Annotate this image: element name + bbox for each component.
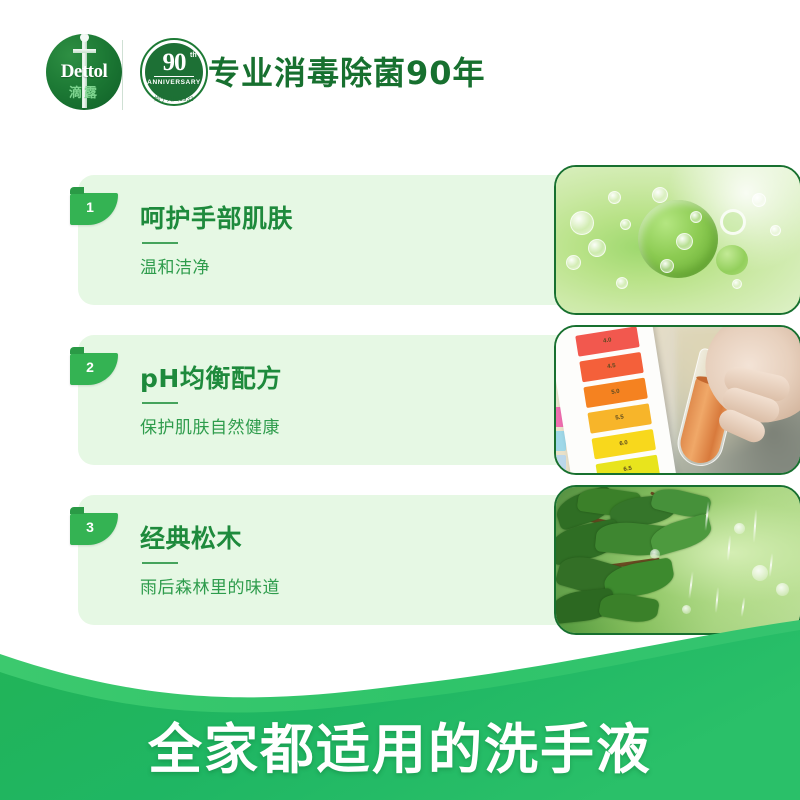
card-subtitle: 保护肌肤自然健康 [140, 413, 280, 438]
green-gel-bubbles-photo [554, 165, 800, 315]
card-divider-rule [142, 242, 178, 244]
ph-photo-background: 4.0 4.5 5.0 5.5 6.0 6.5 [556, 327, 800, 473]
pine-forest-rain-photo [554, 485, 800, 635]
bubble-small [660, 259, 674, 273]
ph-test-strip-photo: 4.0 4.5 5.0 5.5 6.0 6.5 [554, 325, 800, 475]
logo-circle-shape: Dettol 滴露 [46, 34, 122, 110]
bubble-small [752, 193, 766, 207]
bokeh-light [734, 523, 745, 534]
ph-swatch: 4.0 [575, 326, 640, 356]
card-title: 经典松木 [140, 519, 242, 555]
ph-swatch: 5.0 [583, 378, 648, 408]
dettol-logo: Dettol 滴露 [46, 34, 122, 110]
card-title: pH均衡配方 [140, 359, 282, 395]
bubble-small [652, 187, 668, 203]
card-divider-rule [142, 402, 178, 404]
ph-swatch: 5.5 [587, 403, 652, 433]
rain-streak [688, 571, 693, 599]
banner-headline: 全家都适用的洗手液 [0, 705, 800, 784]
rain-streak [741, 597, 746, 617]
ph-reference-chart: 4.0 4.5 5.0 5.5 6.0 6.5 [554, 325, 676, 475]
card-number: 3 [70, 519, 110, 535]
bubble-small [566, 255, 581, 270]
card-number-badge: 1 [70, 193, 118, 225]
card-subtitle: 温和洁净 [140, 253, 210, 278]
bokeh-light [776, 583, 789, 596]
bubble-ring [720, 209, 746, 235]
anniversary-badge: 90 th ANNIVERSARY 始于英国1933 [140, 38, 208, 106]
page-header: Dettol 滴露 90 th ANNIVERSARY 始于英国1933 专业消… [0, 0, 800, 150]
bubble-small [616, 277, 628, 289]
bokeh-light [752, 565, 768, 581]
bubble-medium [716, 245, 748, 275]
brand-name-cn: 滴露 [46, 82, 122, 101]
rain-streak [753, 509, 757, 543]
anniversary-ordinal: th [190, 52, 197, 59]
pine-photo-background [556, 487, 800, 633]
feature-card-2: 2 pH均衡配方 保护肌肤自然健康 4.0 4.5 5.0 5.5 6.0 [78, 335, 722, 465]
bubble-small [770, 225, 781, 236]
header-divider [122, 40, 123, 110]
feature-card-1: 1 呵护手部肌肤 温和洁净 [78, 175, 722, 305]
anniversary-sub: 始于英国1933 [140, 94, 208, 103]
bokeh-light [682, 605, 691, 614]
bubble-small [690, 211, 702, 223]
card-subtitle: 雨后森林里的味道 [140, 573, 280, 598]
bokeh-light [650, 549, 660, 559]
brand-name: Dettol [46, 61, 122, 83]
product-detail-page: Dettol 滴露 90 th ANNIVERSARY 始于英国1933 专业消… [0, 0, 800, 800]
card-divider-rule [142, 562, 178, 564]
rain-streak [769, 553, 773, 577]
rain-streak [715, 587, 719, 613]
feature-card-3: 3 经典松木 雨后森林里的味道 [78, 495, 722, 625]
bubble-small [676, 233, 693, 250]
bubble-small [732, 279, 742, 289]
ph-swatch: 6.0 [591, 429, 656, 459]
bubble-small [608, 191, 621, 204]
ph-swatch: 4.5 [579, 352, 644, 382]
bubble-small [620, 219, 631, 230]
bubble-small [570, 211, 594, 235]
card-number-badge: 3 [70, 513, 118, 545]
card-number-badge: 2 [70, 353, 118, 385]
ph-side-swatch [554, 455, 566, 475]
bubble-small [588, 239, 606, 257]
gel-background [556, 167, 800, 313]
card-number: 2 [70, 359, 110, 375]
card-number: 1 [70, 199, 110, 215]
page-title: 专业消毒除菌90年 [208, 48, 486, 94]
rain-streak [727, 535, 731, 561]
card-title: 呵护手部肌肤 [140, 199, 293, 235]
anniversary-word: ANNIVERSARY [145, 79, 203, 86]
